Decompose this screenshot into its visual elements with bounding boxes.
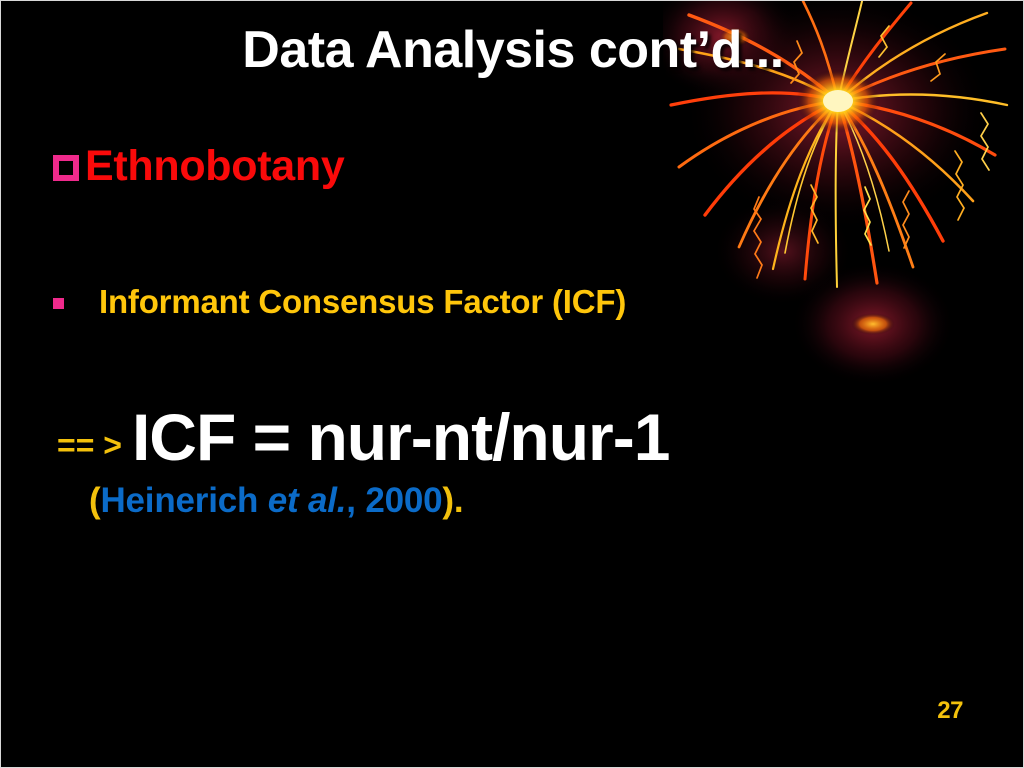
bullet-label-ethnobotany: Ethnobotany — [85, 142, 344, 191]
bullet-label-icf: Informant Consensus Factor (ICF) — [99, 283, 626, 321]
bullet-item-icf: Informant Consensus Factor (ICF) — [1, 283, 1024, 321]
citation-year: , 2000 — [346, 481, 442, 521]
square-hollow-bullet-icon — [53, 155, 79, 181]
slide-title: Data Analysis cont’d... — [1, 23, 1024, 78]
slide-canvas: Data Analysis cont’d... Ethnobotany Info… — [0, 0, 1024, 768]
arrow-marker: == > — [57, 427, 122, 464]
bullet-item-ethnobotany: Ethnobotany — [1, 131, 1024, 201]
citation-open-paren: ( — [89, 481, 100, 521]
citation-line: (Heinerich et al., 2000). — [1, 481, 1024, 521]
citation-close-paren: ). — [442, 481, 463, 521]
slide-body: Ethnobotany Informant Consensus Factor (… — [1, 131, 1024, 521]
formula-line: == > ICF = nur-nt/nur-1 — [1, 399, 1024, 475]
citation-et-al: et al. — [268, 481, 347, 521]
citation-author: Heinerich — [100, 481, 267, 521]
square-solid-bullet-icon — [53, 298, 64, 309]
formula-expression: ICF = nur-nt/nur-1 — [132, 399, 669, 475]
page-number: 27 — [937, 697, 963, 725]
